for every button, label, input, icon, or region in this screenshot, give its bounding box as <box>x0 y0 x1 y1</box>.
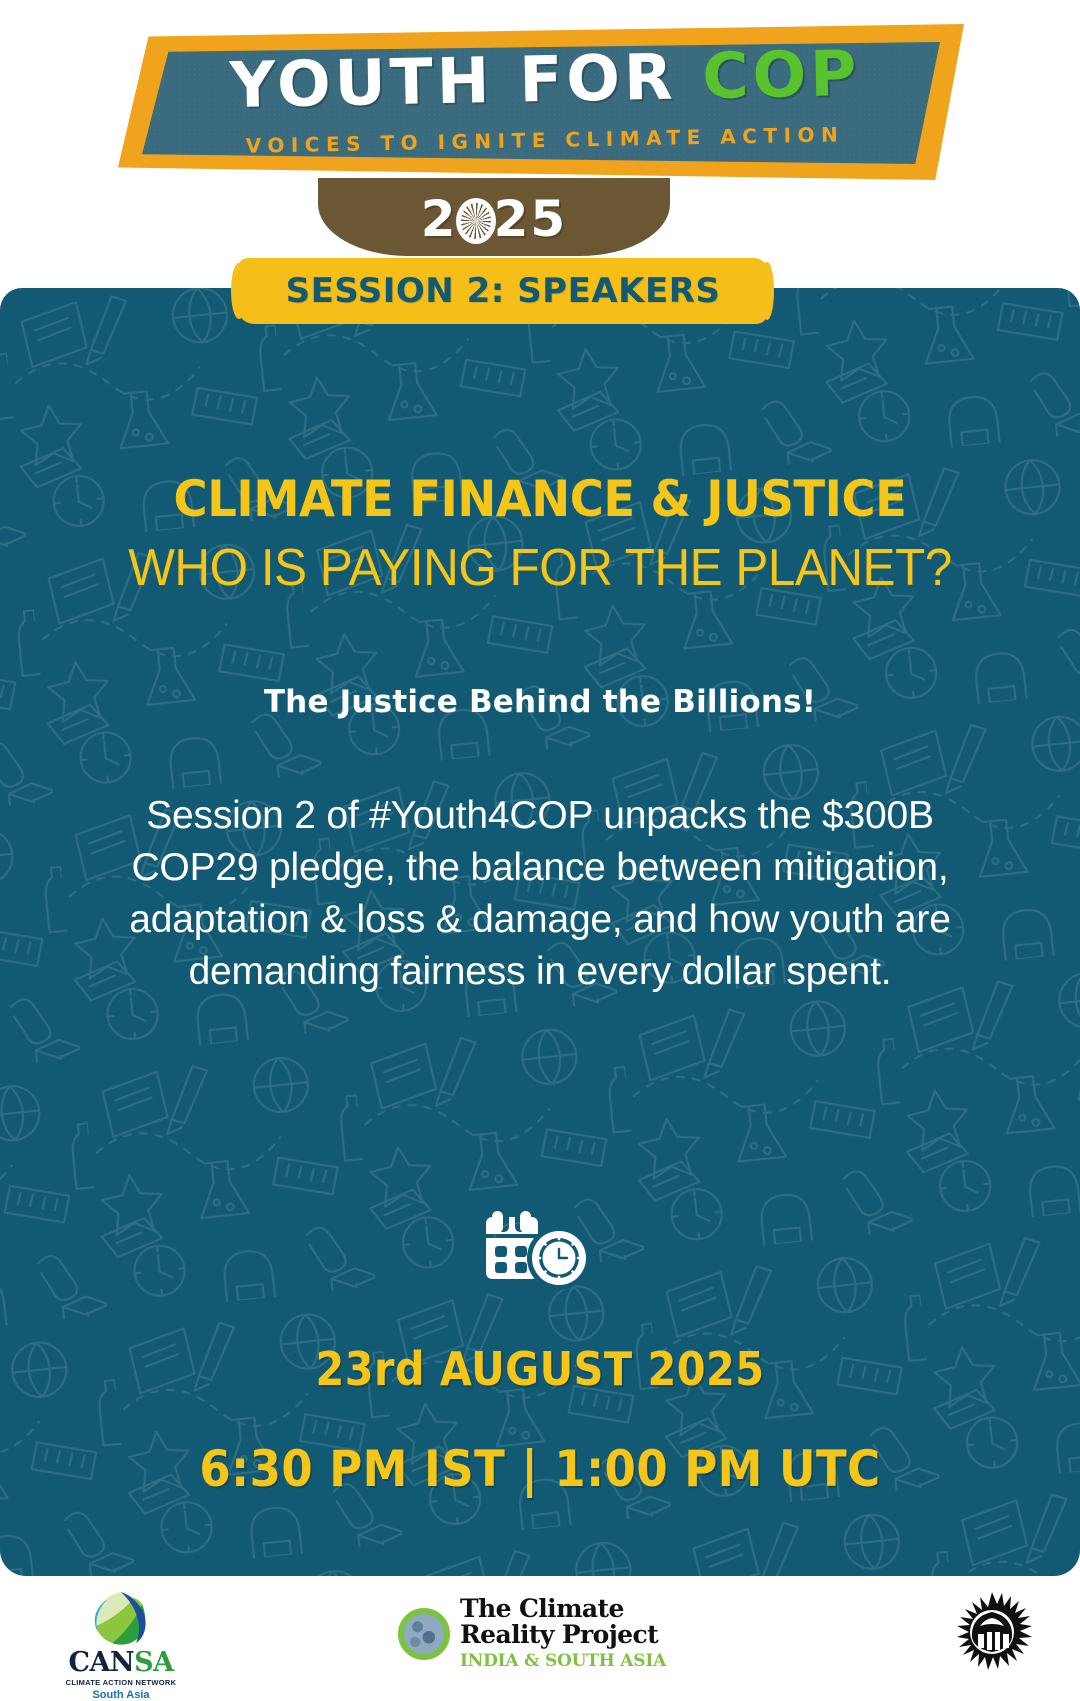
cansa-subtitle-network: CLIMATE ACTION NETWORK <box>66 1678 177 1687</box>
crp-wordmark: The Climate Reality Project INDIA & SOUT… <box>460 1596 666 1671</box>
sunburst-logo <box>952 1592 1032 1672</box>
globe-icon <box>398 1608 450 1660</box>
climate-reality-project-logo: The Climate Reality Project INDIA & SOUT… <box>398 1596 666 1671</box>
crp-line-1: The Climate <box>460 1596 666 1622</box>
subheading: The Justice Behind the Billions! <box>0 684 1080 720</box>
event-time: 6:30 PM IST | 1:00 PM UTC <box>54 1440 1026 1498</box>
crp-line-2: Reality Project <box>460 1622 666 1648</box>
logo-year: 225 <box>318 190 670 248</box>
page-title-line2: WHO IS PAYING FOR THE PLANET? <box>27 538 1053 598</box>
panel-content: CLIMATE FINANCE & JUSTICE WHO IS PAYING … <box>0 288 1080 1576</box>
session-badge-label: SESSION 2: SPEAKERS <box>286 271 721 311</box>
logo-year-left: 2 <box>421 190 458 248</box>
main-panel: CLIMATE FINANCE & JUSTICE WHO IS PAYING … <box>0 288 1080 1576</box>
crp-line-3: INDIA & SOUTH ASIA <box>460 1651 666 1671</box>
logo-word-white: YOUTH FOR <box>229 40 677 122</box>
cansa-wordmark: CANSA <box>68 1649 173 1676</box>
cansa-word-can: CAN <box>68 1647 134 1678</box>
cansa-word-sa: SA <box>134 1647 173 1678</box>
cansa-logo: CANSA CLIMATE ACTION NETWORK South Asia <box>46 1590 196 1701</box>
tree-seal-icon <box>456 198 496 244</box>
body-description: Session 2 of #Youth4COP unpacks the $300… <box>86 790 994 997</box>
cansa-leaf-icon <box>90 1590 152 1646</box>
cansa-subtitle-region: South Asia <box>92 1689 149 1701</box>
event-logo: YOUTH FOR COP VOICES TO IGNITE CLIMATE A… <box>0 18 1080 258</box>
footer-partner-logos: CANSA CLIMATE ACTION NETWORK South Asia … <box>0 1576 1080 1688</box>
page-title-line1: CLIMATE FINANCE & JUSTICE <box>38 470 1042 528</box>
event-date: 23rd AUGUST 2025 <box>54 1342 1026 1396</box>
logo-word-green: COP <box>702 37 861 113</box>
session-badge: SESSION 2: SPEAKERS <box>238 258 768 324</box>
logo-wordmark: YOUTH FOR COP <box>149 40 940 118</box>
calendar-clock-icon-wrap <box>0 1208 1080 1292</box>
calendar-clock-icon <box>486 1208 594 1292</box>
logo-year-right: 25 <box>494 190 568 248</box>
